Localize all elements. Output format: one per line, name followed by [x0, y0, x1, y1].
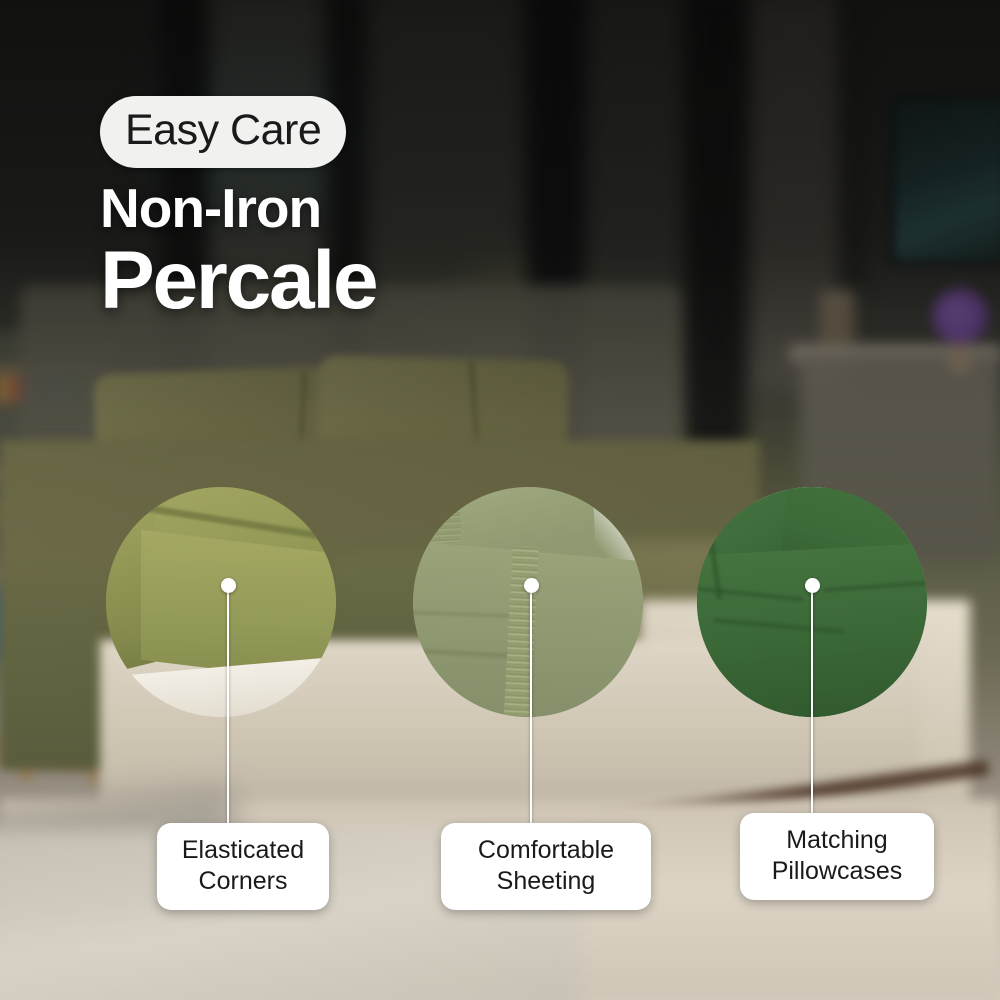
detail-circle-comfortable-sheeting	[413, 487, 643, 717]
headline-percale: Percale	[100, 239, 376, 323]
callout-label-matching-pillowcases: Matching Pillowcases	[740, 813, 934, 900]
headline-block: Easy Care Non-Iron Percale	[100, 96, 376, 323]
detail-circle-elasticated-corners	[106, 487, 336, 717]
table-lamp	[820, 290, 854, 350]
product-marketing-image: Easy Care Non-Iron Percale	[0, 0, 1000, 1000]
detail-image-fitted-sheet-corner	[106, 487, 336, 717]
callout-label-elasticated-corners: Elasticated Corners	[157, 823, 329, 910]
detail-image-sheeting-lace-trim	[413, 487, 643, 717]
callout-label-comfortable-sheeting: Comfortable Sheeting	[441, 823, 651, 910]
purple-flowers	[932, 288, 988, 344]
marker-dot-icon	[524, 578, 539, 593]
marker-dot-icon	[805, 578, 820, 593]
curtain-panel-5	[840, 0, 866, 290]
marker-dot-icon	[221, 578, 236, 593]
framed-artwork	[890, 95, 1000, 265]
easy-care-badge: Easy Care	[100, 96, 346, 168]
leader-line-comfortable-sheeting	[530, 590, 532, 825]
headline-non-iron: Non-Iron	[100, 180, 376, 237]
curtain-panel-4	[686, 0, 746, 460]
leader-line-matching-pillowcases	[811, 590, 813, 815]
leader-line-elasticated-corners	[227, 590, 229, 825]
